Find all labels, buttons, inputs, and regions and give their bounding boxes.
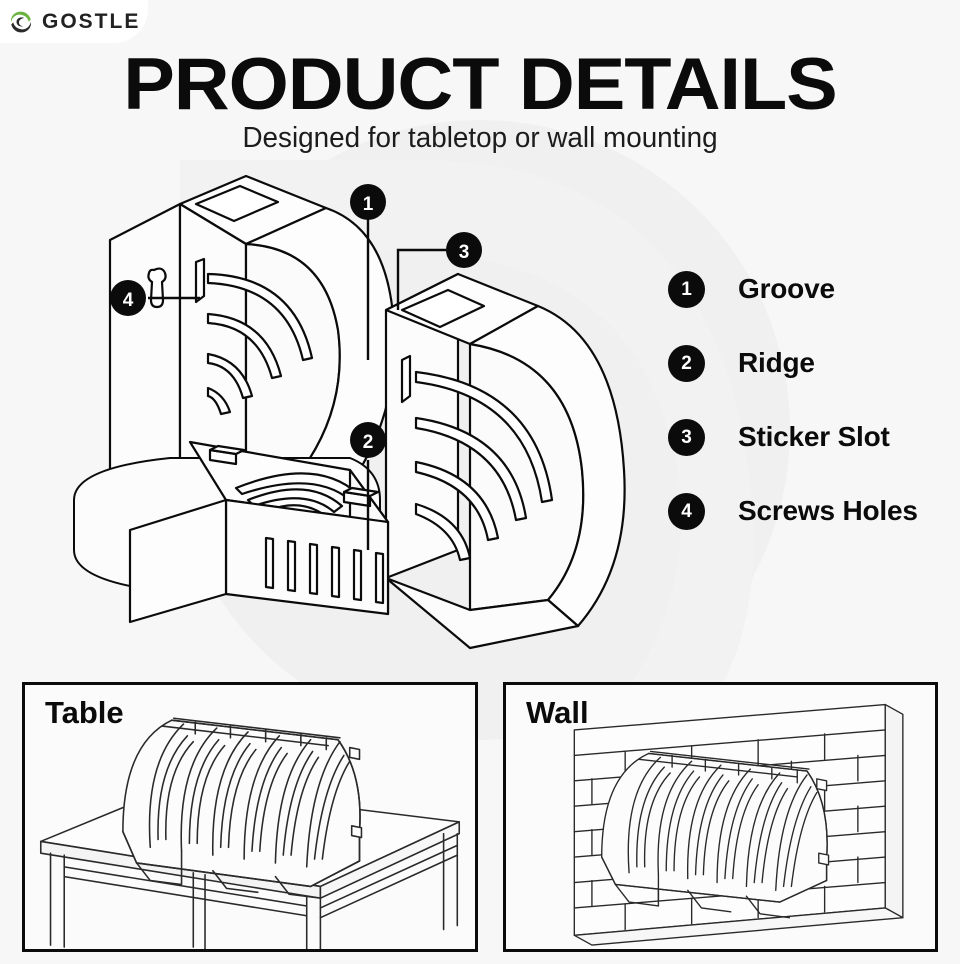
panel-label-wall: Wall — [526, 697, 589, 728]
svg-text:4: 4 — [123, 290, 134, 311]
legend-item-groove: 1 Groove — [668, 252, 953, 326]
feature-legend: 1 Groove 2 Ridge 3 Sticker Slot 4 Screws… — [668, 252, 953, 548]
legend-badge-3: 3 — [668, 419, 705, 456]
svg-text:2: 2 — [363, 432, 374, 453]
legend-label-1: Groove — [738, 273, 835, 305]
legend-item-ridge: 2 Ridge — [668, 326, 953, 400]
panel-label-table: Table — [45, 697, 124, 728]
unit-right — [386, 274, 625, 648]
infographic-canvas: GOSTLE PRODUCT DETAILS Designed for tabl… — [0, 0, 960, 964]
legend-label-2: Ridge — [738, 347, 815, 379]
unit-left — [110, 176, 394, 500]
legend-item-sticker-slot: 3 Sticker Slot — [668, 400, 953, 474]
panel-wall: Wall — [503, 682, 938, 952]
legend-item-screws-holes: 4 Screws Holes — [668, 474, 953, 548]
legend-badge-1: 1 — [668, 271, 705, 308]
page-subtitle: Designed for tabletop or wall mounting — [19, 123, 941, 155]
legend-label-3: Sticker Slot — [738, 421, 890, 453]
svg-text:3: 3 — [459, 242, 470, 263]
legend-badge-2: 2 — [668, 345, 705, 382]
brand-logo: GOSTLE — [0, 0, 148, 43]
page-title: PRODUCT DETAILS — [0, 48, 960, 121]
svg-text:1: 1 — [363, 194, 374, 215]
panel-table: Table — [22, 682, 478, 952]
screw-hole — [148, 269, 165, 307]
product-diagram: 1 2 3 4 — [50, 170, 670, 670]
legend-badge-4: 4 — [668, 493, 705, 530]
brand-name: GOSTLE — [42, 11, 140, 32]
callout-badge-2: 2 — [350, 422, 386, 458]
callout-badge-3: 3 — [446, 232, 482, 268]
callout-badge-4: 4 — [110, 280, 146, 316]
callout-badge-1: 1 — [350, 184, 386, 220]
spiral-swoosh-icon — [8, 9, 34, 35]
unit-tilted — [74, 442, 388, 622]
groove-slot — [402, 356, 410, 402]
legend-label-4: Screws Holes — [738, 495, 918, 527]
